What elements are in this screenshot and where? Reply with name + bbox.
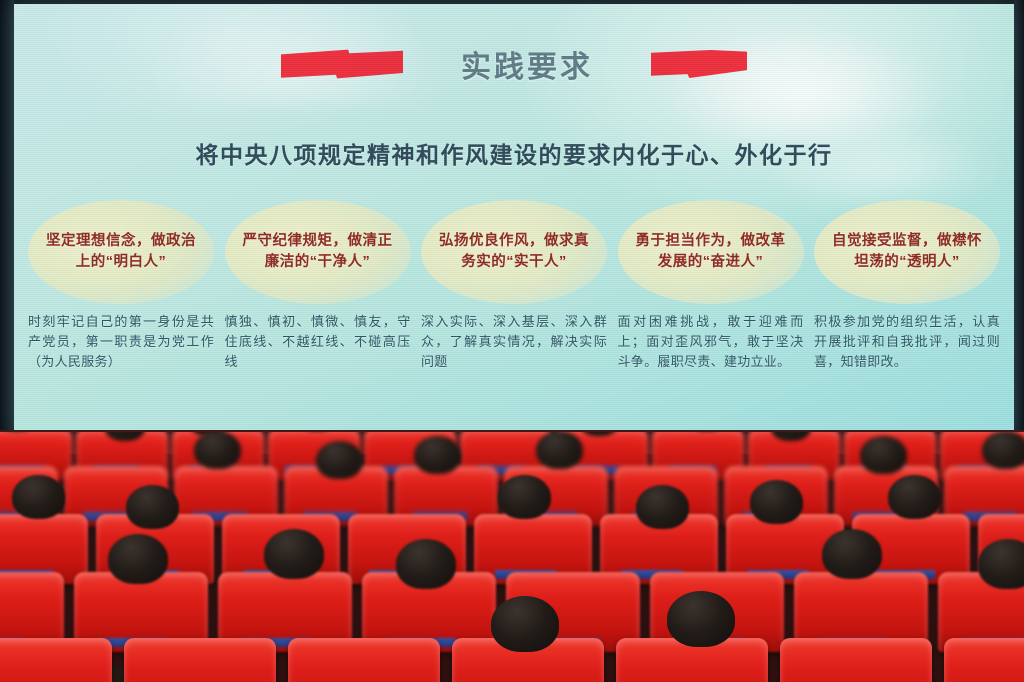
oval-label: 坚定理想信念，做政治上的“明白人”: [46, 231, 196, 272]
auditorium-seat: [124, 638, 276, 682]
slide-title-row: 实践要求: [14, 42, 1014, 86]
slide-subtitle: 将中央八项规定精神和作风建设的要求内化于心、外化于行: [14, 136, 1014, 170]
red-brush-stroke-left-icon: [281, 49, 403, 79]
oval-label: 弘扬优良作风，做求真务实的“实干人”: [439, 231, 589, 272]
body-column-3: 深入实际、深入基层、深入群众，了解真实情况，解决实际问题: [421, 312, 607, 371]
oval-label: 勇于担当作为，做改革发展的“奋进人”: [636, 231, 786, 272]
red-brush-stroke-right-icon: [651, 50, 747, 78]
auditorium-seat: [944, 638, 1024, 682]
slide-title: 实践要求: [461, 42, 593, 86]
oval-label: 自觉接受监督，做襟怀坦荡的“透明人”: [832, 231, 982, 272]
oval-item-3: 弘扬优良作风，做求真务实的“实干人”: [421, 200, 607, 304]
oval-item-5: 自觉接受监督，做襟怀坦荡的“透明人”: [814, 200, 1000, 304]
auditorium-seat: [288, 638, 440, 682]
lecture-hall-scene: 实践要求 将中央八项规定精神和作风建设的要求内化于心、外化于行 坚定理想信念，做…: [0, 0, 1024, 682]
oval-group: 坚定理想信念，做政治上的“明白人” 严守纪律规矩，做清正廉洁的“干净人” 弘扬优…: [28, 200, 1000, 304]
audience-member-head: [491, 596, 559, 652]
oval-item-2: 严守纪律规矩，做清正廉洁的“干净人”: [225, 200, 411, 304]
wall-right: [1014, 0, 1024, 440]
body-column-4: 面对困难挑战，敢于迎难而上；面对歪风邪气，敢于坚决斗争。履职尽责、建功立业。: [618, 312, 804, 371]
podium-area: [0, 330, 268, 446]
oval-item-4: 勇于担当作为，做改革发展的“奋进人”: [618, 200, 804, 304]
auditorium-seat: [0, 638, 112, 682]
oval-label: 严守纪律规矩，做清正廉洁的“干净人”: [243, 231, 393, 272]
body-column-5: 积极参加党的组织生活，认真开展批评和自我批评，闻过则喜，知错即改。: [814, 312, 1000, 371]
auditorium-seat: [780, 638, 932, 682]
audience-seating: [0, 432, 1024, 682]
audience-member-head: [667, 591, 735, 647]
oval-item-1: 坚定理想信念，做政治上的“明白人”: [28, 200, 214, 304]
